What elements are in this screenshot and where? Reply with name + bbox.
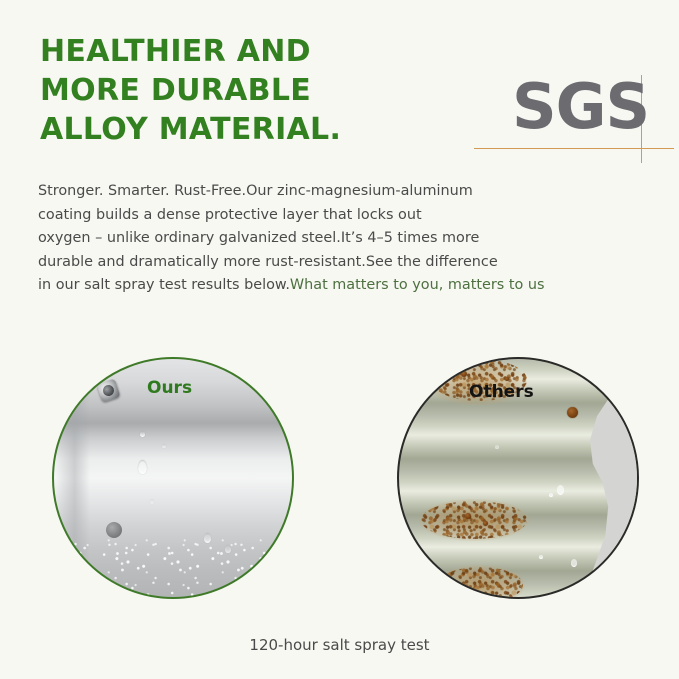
water-droplet [539, 555, 543, 559]
water-droplet [557, 485, 564, 495]
headline-line-3: ALLOY MATERIAL. [40, 110, 440, 149]
sgs-logo: SGS [470, 66, 675, 166]
paragraph-tagline: What matters to you, matters to us [290, 277, 545, 293]
paragraph-line-4: durable and dramatically more rust-resis… [38, 251, 638, 275]
paragraph-line-5-prefix: in our salt spray test results below. [38, 277, 290, 293]
rust-speck [461, 371, 467, 377]
rust-speck [505, 377, 509, 381]
sgs-logo-text: SGS [512, 68, 649, 146]
water-droplet [495, 445, 499, 449]
paragraph-line-3: oxygen – unlike ordinary galvanized stee… [38, 227, 638, 251]
water-droplet [162, 444, 166, 448]
sample-ours: Ours [52, 357, 294, 599]
headline-line-2: MORE DURABLE [40, 71, 440, 110]
ours-water-mist [54, 525, 292, 597]
page-title: HEALTHIER AND MORE DURABLE ALLOY MATERIA… [40, 32, 440, 149]
bolt-icon [97, 379, 121, 403]
salt-spray-comparison: Ours O [0, 355, 679, 600]
sample-others: Others [397, 357, 639, 599]
others-peeled-coating [569, 359, 639, 597]
label-ours: Ours [147, 378, 192, 398]
comparison-caption: 120-hour salt spray test [0, 636, 679, 654]
label-others: Others [469, 382, 534, 402]
water-droplet [150, 499, 154, 504]
water-droplet [140, 431, 145, 437]
water-droplet [549, 493, 553, 497]
water-droplet [138, 460, 147, 474]
sgs-horizontal-rule [474, 148, 674, 149]
paragraph-line-2: coating builds a dense protective layer … [38, 204, 638, 228]
paragraph-line-1: Stronger. Smarter. Rust-Free.Our zinc-ma… [38, 180, 638, 204]
rust-speck [465, 513, 471, 519]
water-droplet [571, 559, 577, 567]
rust-patch [437, 567, 523, 599]
paragraph-line-5: in our salt spray test results below.Wha… [38, 274, 638, 298]
body-paragraph: Stronger. Smarter. Rust-Free.Our zinc-ma… [38, 180, 638, 298]
rust-patch [421, 501, 527, 539]
rust-spot-large [567, 407, 578, 418]
promo-banner: HEALTHIER AND MORE DURABLE ALLOY MATERIA… [0, 0, 679, 679]
headline-line-1: HEALTHIER AND [40, 32, 440, 71]
rust-speck [483, 521, 488, 526]
